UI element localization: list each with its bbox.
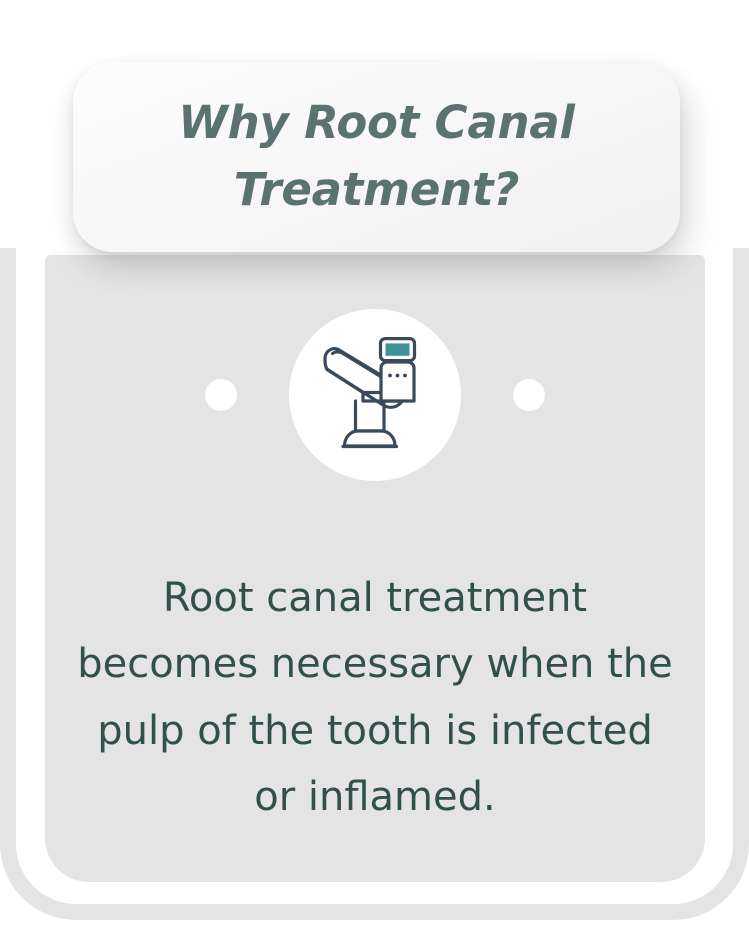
icon-row [45,300,705,490]
card-stage: Why Root Canal Treatment? [0,0,749,930]
title-card: Why Root Canal Treatment? [73,62,680,252]
dental-chair-icon [314,337,436,453]
decorative-dot-left-icon [205,379,237,411]
decorative-dot-right-icon [513,379,545,411]
card-title: Why Root Canal Treatment? [144,90,609,223]
card-body-text: Root canal treatment becomes necessary w… [45,565,705,831]
icon-circle [289,309,461,481]
